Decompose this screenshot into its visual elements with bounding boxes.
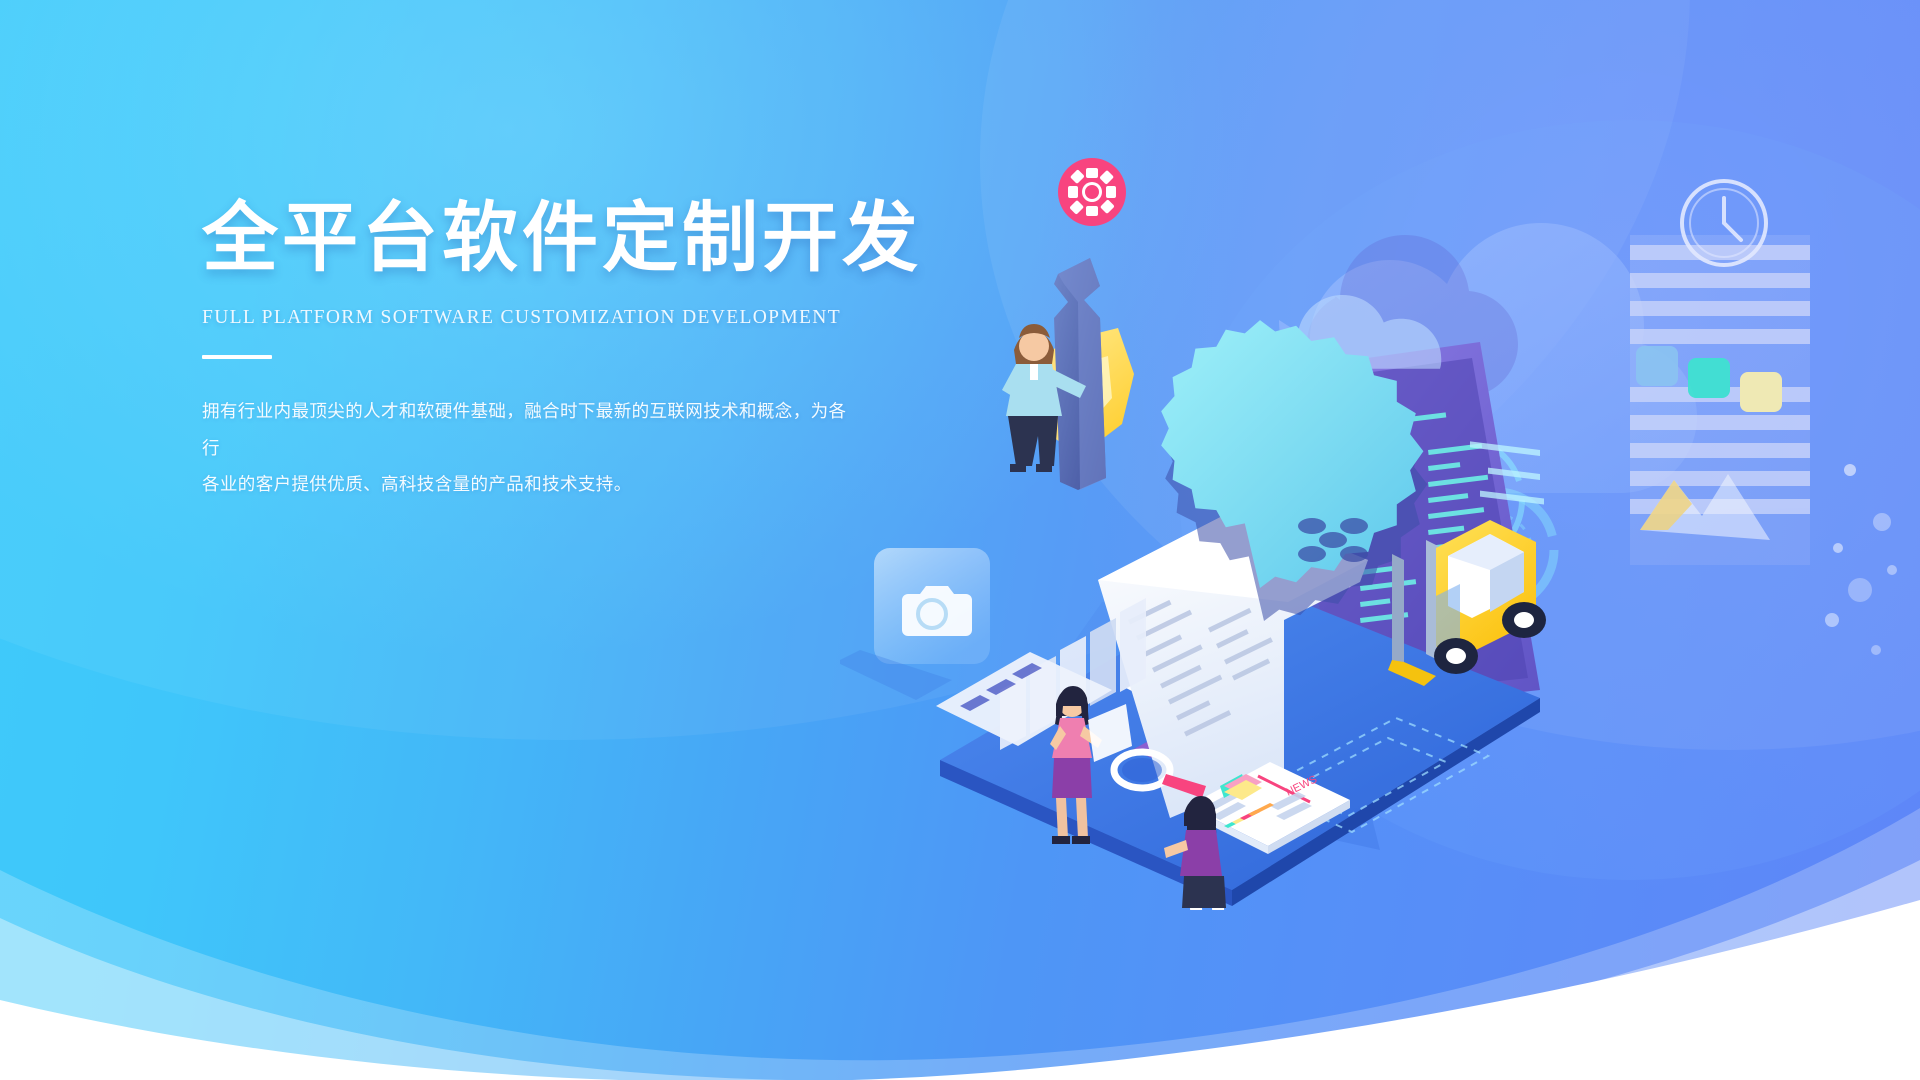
page-title: 全平台软件定制开发	[202, 196, 902, 281]
page-subtitle: FULL PLATFORM SOFTWARE CUSTOMIZATION DEV…	[202, 307, 902, 329]
document-icon	[1630, 235, 1810, 565]
camera-icon	[840, 548, 990, 700]
hero-copy: 全平台软件定制开发 FULL PLATFORM SOFTWARE CUSTOMI…	[202, 196, 902, 502]
hero-description-line-2: 各业的客户提供优质、高科技含量的产品和技术支持。	[202, 466, 852, 502]
hero-description: 拥有行业内最顶尖的人才和软硬件基础，融合时下最新的互联网技术和概念，为各行 各业…	[202, 393, 852, 502]
hero-banner: NEWS	[0, 0, 1920, 1080]
dots-decor	[1825, 464, 1897, 655]
title-divider	[202, 355, 272, 359]
hero-description-line-1: 拥有行业内最顶尖的人才和软硬件基础，融合时下最新的互联网技术和概念，为各行	[202, 393, 852, 466]
gear-icon-badge	[1058, 158, 1126, 226]
hero-illustration: NEWS	[840, 150, 1920, 910]
